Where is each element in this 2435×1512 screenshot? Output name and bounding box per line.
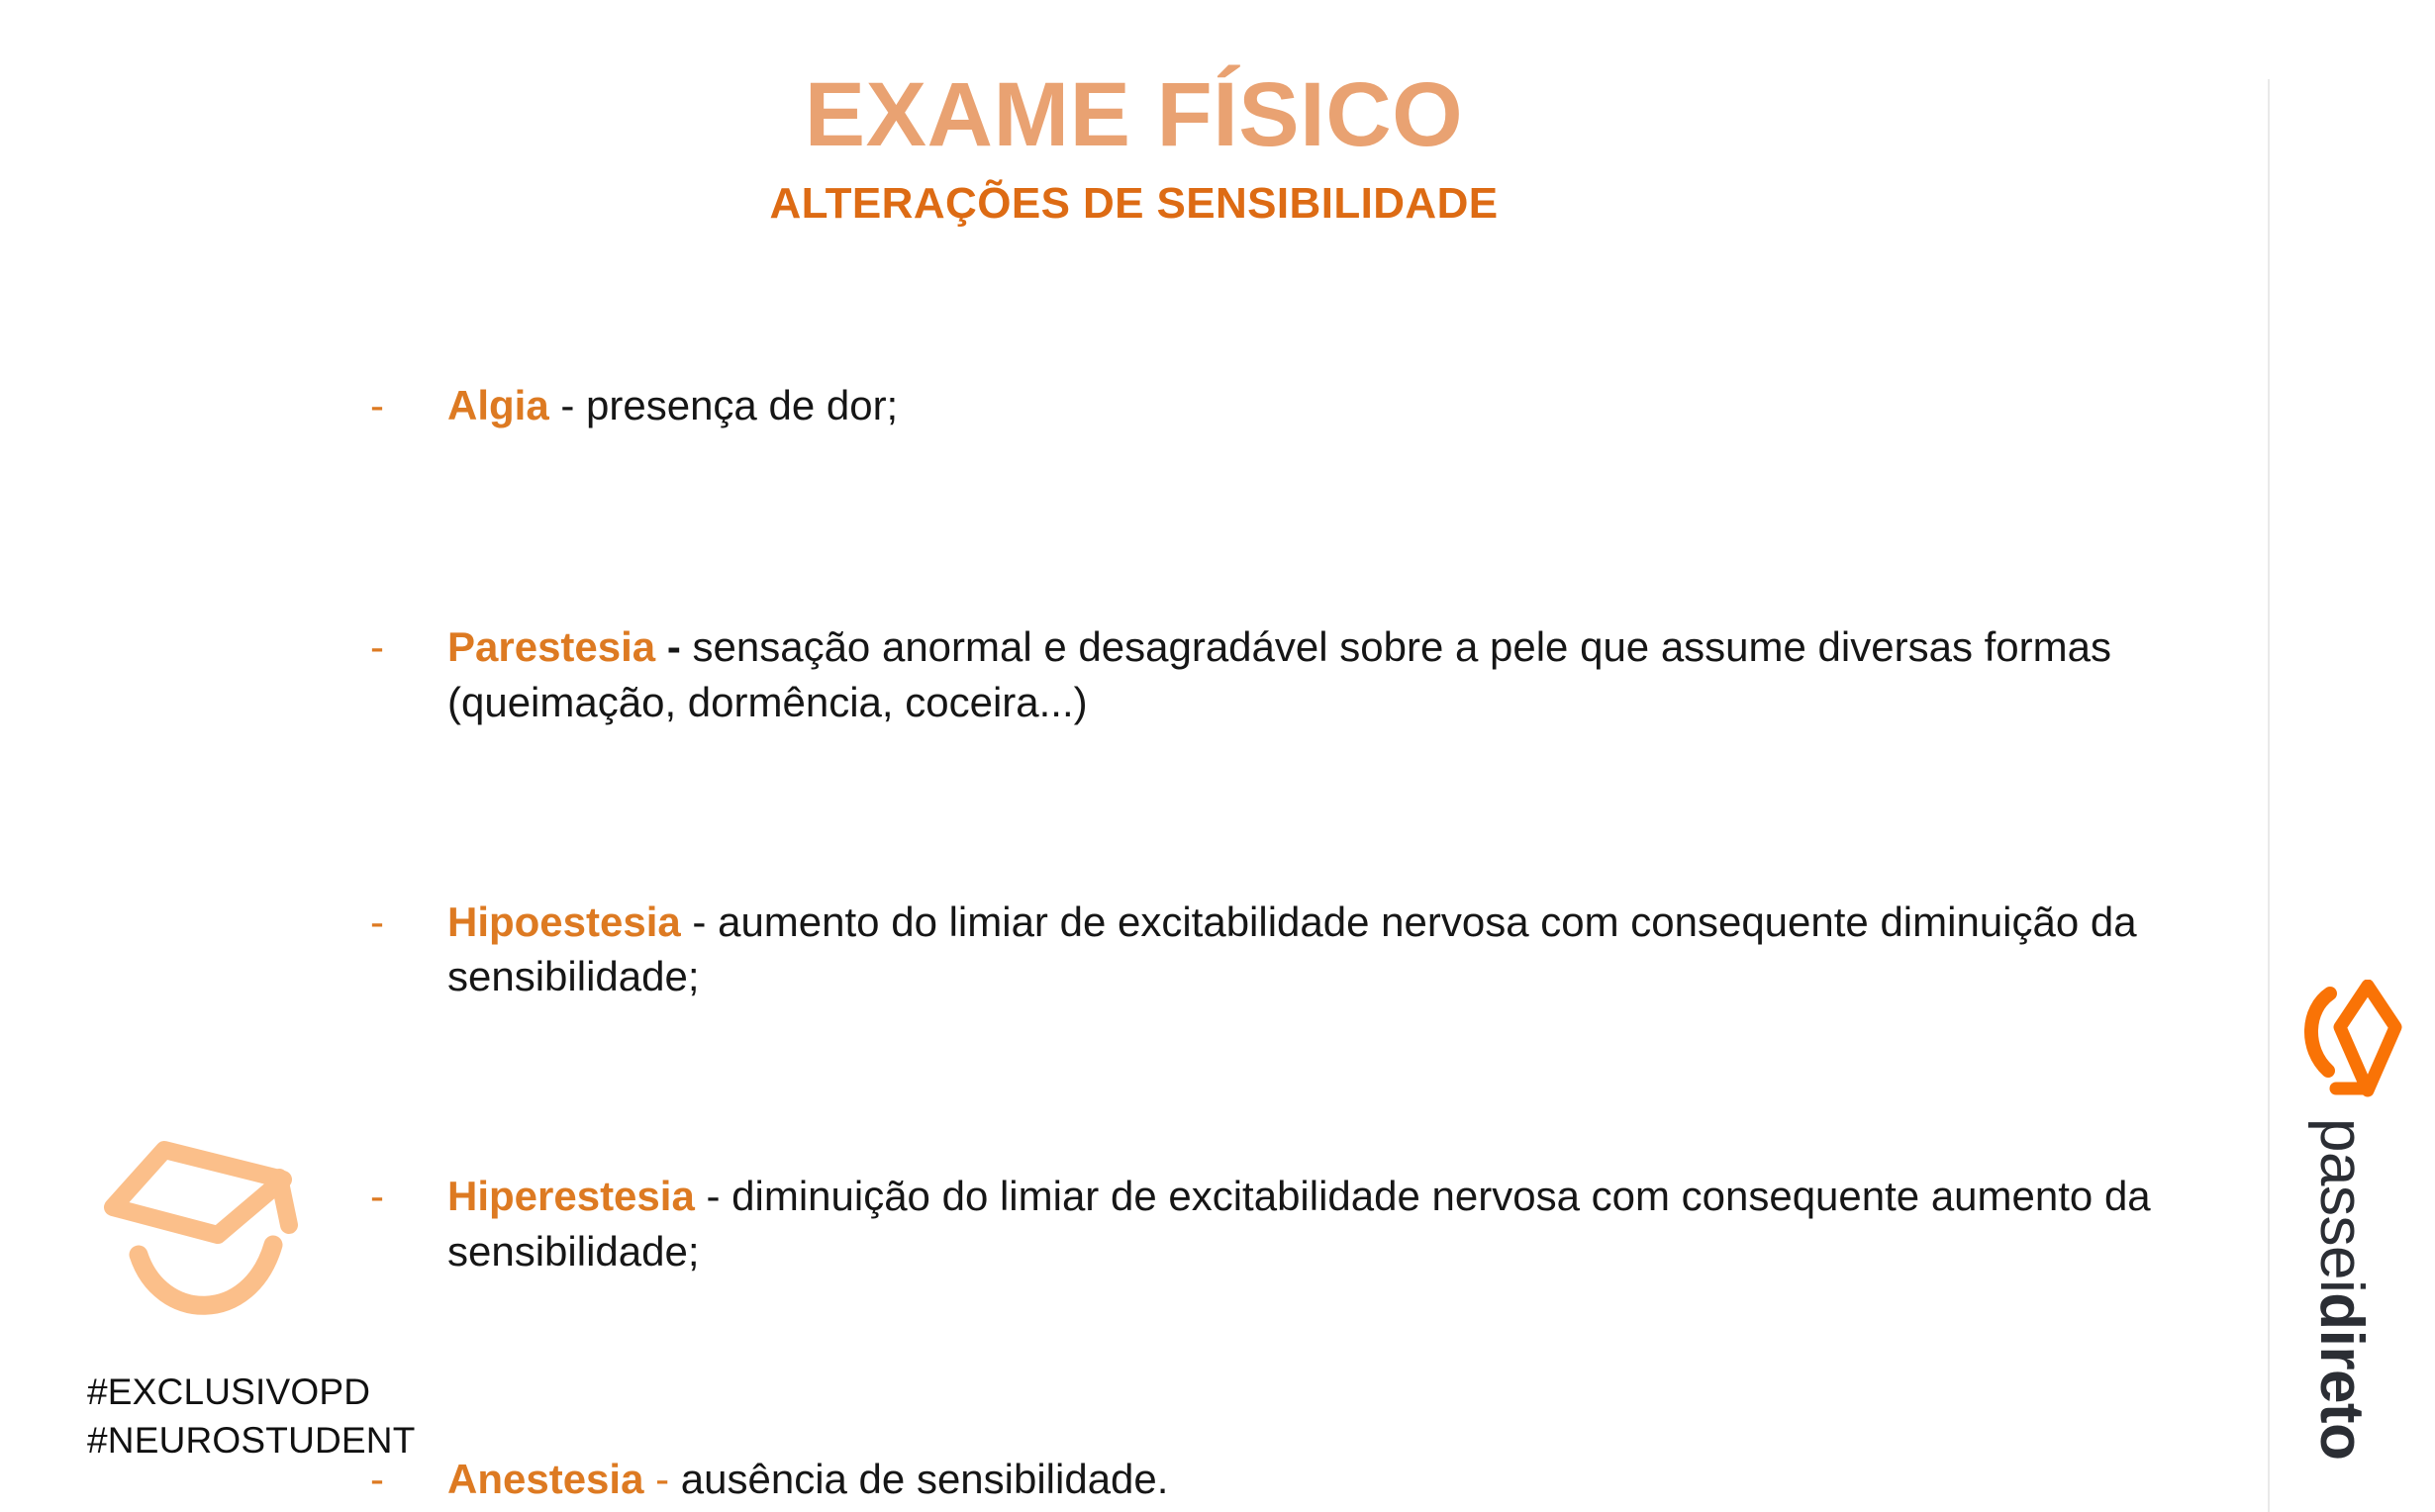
term-label: Hipoestesia <box>447 898 681 945</box>
term-description: sensação anormal e desagradável sobre a … <box>447 623 2111 725</box>
passeidireto-wordmark: passeidireto <box>2277 1118 2405 1494</box>
term-label: Anestesia <box>447 1456 643 1502</box>
list-item: -Anestesia - ausência de sensibilidade. <box>366 1452 2227 1507</box>
term-label: Algia <box>447 382 549 428</box>
term-separator: - <box>681 898 718 945</box>
hashtag-block: #EXCLUSIVOPD #NEUROSTUDENT <box>87 1368 416 1465</box>
bullet-dash-icon: - <box>370 378 384 433</box>
hashtag-exclusivopd: #EXCLUSIVOPD <box>87 1368 416 1416</box>
brand-word-direto: direto <box>2307 1292 2376 1460</box>
header-block: EXAME FÍSICO ALTERAÇÕES DE SENSIBILIDADE <box>0 69 2268 226</box>
right-rail-divider <box>2268 79 2270 1512</box>
term-label: Hiperestesia <box>447 1173 695 1219</box>
hashtag-neurostudent: #NEUROSTUDENT <box>87 1416 416 1465</box>
bullet-dash-icon: - <box>370 619 384 675</box>
slide-canvas: EXAME FÍSICO ALTERAÇÕES DE SENSIBILIDADE… <box>0 0 2435 1512</box>
sensibility-alterations-list: -Algia - presença de dor; -Parestesia - … <box>366 336 2227 1512</box>
list-spacer <box>366 1321 2227 1410</box>
term-separator: - <box>655 623 692 670</box>
list-spacer <box>366 475 2227 578</box>
slide-subtitle: ALTERAÇÕES DE SENSIBILIDADE <box>0 182 2268 226</box>
list-item: -Parestesia - sensação anormal e desagra… <box>366 619 2227 730</box>
passeidireto-pen-nib-icon <box>2296 980 2403 1106</box>
brand-word-passei: passei <box>2307 1118 2376 1292</box>
slide-title: EXAME FÍSICO <box>0 69 2268 160</box>
graduation-cap-smile-icon <box>99 1128 317 1336</box>
passeidireto-brand: passeidireto <box>2277 980 2425 1504</box>
term-label: Parestesia <box>447 623 655 670</box>
term-separator: - <box>549 382 586 428</box>
term-description: ausência de sensibilidade. <box>681 1456 1169 1502</box>
list-spacer <box>366 1046 2227 1127</box>
term-description: presença de dor; <box>586 382 898 428</box>
term-separator: - <box>695 1173 731 1219</box>
list-item: -Hiperestesia - diminuição do limiar de … <box>366 1169 2227 1279</box>
list-spacer <box>366 772 2227 853</box>
bullet-dash-icon: - <box>370 1169 384 1224</box>
list-item: -Hipoestesia - aumento do limiar de exci… <box>366 895 2227 1005</box>
list-item: -Algia - presença de dor; <box>366 378 2227 433</box>
term-separator: - <box>643 1456 680 1502</box>
bullet-dash-icon: - <box>370 895 384 950</box>
